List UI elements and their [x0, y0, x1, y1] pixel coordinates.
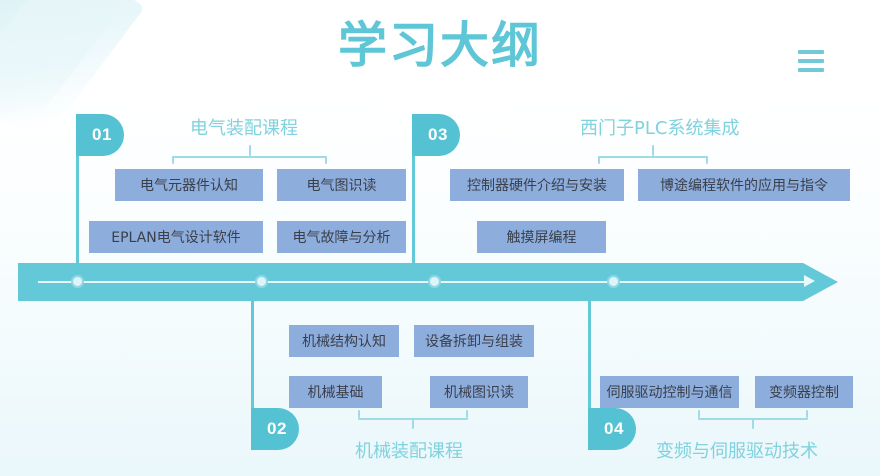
- page-title: 学习大纲: [0, 14, 880, 78]
- course-chip[interactable]: 电气元器件认知: [115, 169, 263, 201]
- timeline-axis-line: [38, 281, 810, 283]
- section-title-04: 变频与伺服驱动技术: [656, 437, 818, 463]
- section-badge-04[interactable]: 04: [588, 408, 636, 450]
- hamburger-bar-3: [798, 68, 824, 72]
- stem-04: [588, 298, 591, 410]
- course-chip[interactable]: 控制器硬件介绍与安装: [450, 169, 624, 201]
- course-chip[interactable]: EPLAN电气设计软件: [89, 221, 263, 253]
- timeline-node-01[interactable]: [71, 275, 84, 288]
- course-chip[interactable]: 博途编程软件的应用与指令: [638, 169, 850, 201]
- stem-03: [412, 150, 415, 267]
- stem-01: [76, 150, 79, 267]
- section-badge-02[interactable]: 02: [251, 408, 299, 450]
- section-title-03: 西门子PLC系统集成: [580, 114, 739, 140]
- course-chip[interactable]: 触摸屏编程: [477, 221, 606, 253]
- timeline-node-03[interactable]: [428, 275, 441, 288]
- course-chip[interactable]: 机械基础: [289, 376, 382, 408]
- hamburger-bar-2: [798, 59, 824, 63]
- course-chip[interactable]: 设备拆卸与组装: [414, 325, 534, 357]
- hamburger-menu-icon[interactable]: [798, 50, 824, 72]
- course-chip[interactable]: 机械图识读: [430, 376, 528, 408]
- course-chip[interactable]: 电气故障与分析: [277, 221, 406, 253]
- hamburger-bar-1: [798, 50, 824, 54]
- section-title-02: 机械装配课程: [355, 437, 463, 463]
- course-chip[interactable]: 机械结构认知: [289, 325, 399, 357]
- timeline-arrow-head: [804, 275, 815, 287]
- timeline-node-02[interactable]: [255, 275, 268, 288]
- slide-canvas: 学习大纲 01 电气装配课程 电气元器件认知 电气图识读 EPLAN电气设计软件…: [0, 0, 880, 476]
- section-title-01: 电气装配课程: [190, 114, 298, 140]
- course-chip[interactable]: 电气图识读: [277, 169, 406, 201]
- stem-02: [251, 298, 254, 410]
- timeline-node-04[interactable]: [607, 275, 620, 288]
- section-badge-03[interactable]: 03: [412, 114, 460, 156]
- section-badge-01[interactable]: 01: [76, 114, 124, 156]
- course-chip[interactable]: 变频器控制: [755, 376, 853, 408]
- course-chip[interactable]: 伺服驱动控制与通信: [600, 376, 739, 408]
